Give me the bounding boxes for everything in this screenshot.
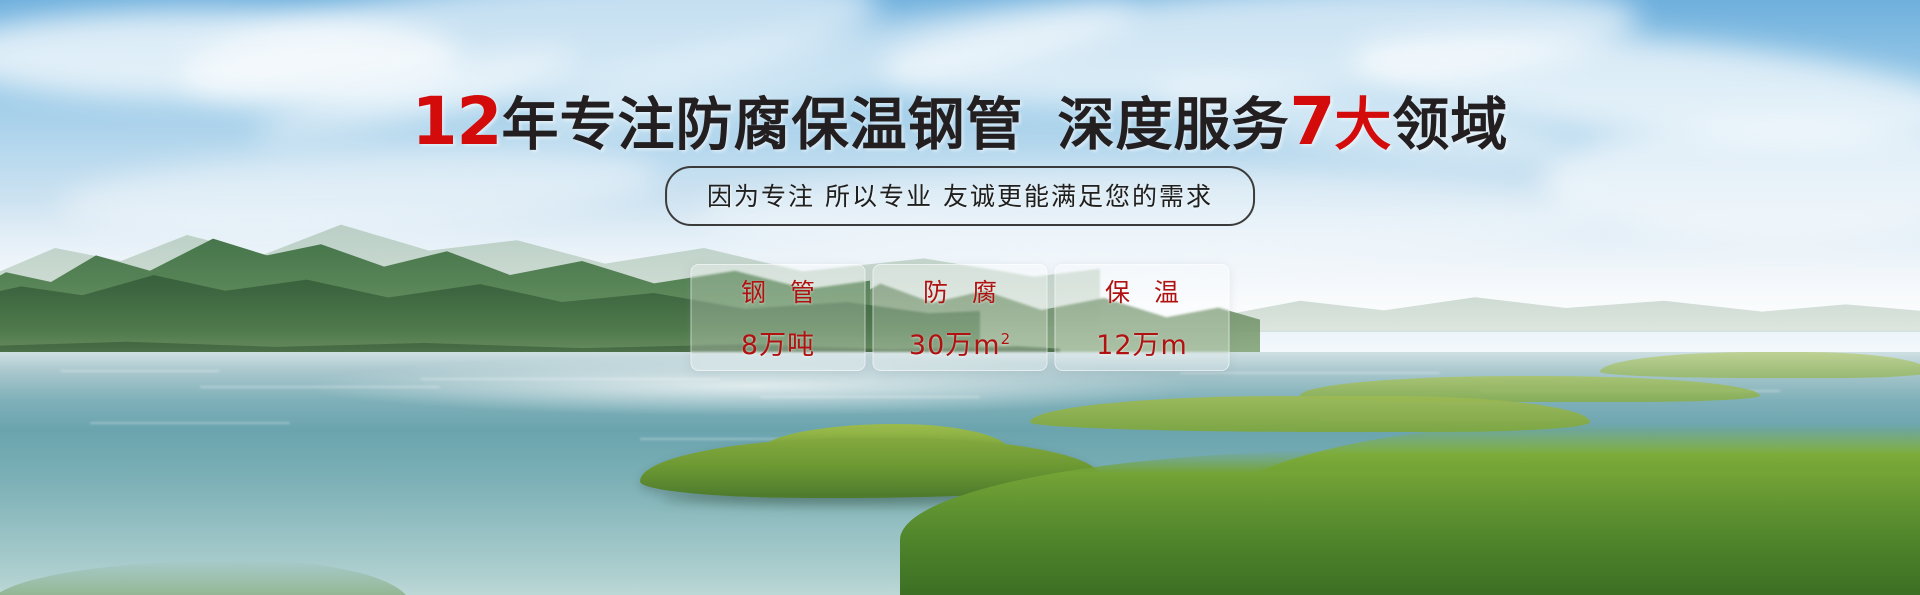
hero-banner: 12年专注防腐保温钢管深度服务7大领域 因为专注 所以专业 友诚更能满足您的需求… — [0, 0, 1920, 595]
water-shimmer — [60, 370, 220, 372]
water-shimmer — [1180, 372, 1440, 374]
stat-card-anticorrosion: 防 腐 30万m2 — [873, 264, 1048, 371]
stat-card-value-sup: 2 — [1001, 330, 1012, 348]
headline-years-number: 12 — [412, 83, 502, 160]
stat-card-title: 防 腐 — [915, 273, 1005, 309]
stat-card-value: 12万m — [1096, 323, 1188, 362]
headline-service-prefix: 深度服务 — [1057, 92, 1289, 158]
banner-subtitle-pill: 因为专注 所以专业 友诚更能满足您的需求 — [665, 166, 1255, 226]
stat-card-insulation: 保 温 12万m — [1055, 264, 1230, 371]
stat-card-value-text: 8万吨 — [741, 330, 815, 361]
headline-fields-suffix: 领域 — [1392, 92, 1508, 158]
headline-fields-number: 7 — [1289, 83, 1334, 160]
stat-card-value: 30万m2 — [909, 323, 1011, 362]
stat-card-value-text: 30万m — [909, 330, 1001, 361]
stat-card-title: 钢 管 — [733, 273, 823, 309]
banner-headline: 12年专注防腐保温钢管深度服务7大领域 — [0, 86, 1920, 157]
stat-card-title: 保 温 — [1097, 273, 1187, 309]
water-shimmer — [90, 422, 290, 424]
stat-card-value-text: 12万m — [1096, 330, 1188, 361]
stat-card-group: 钢 管 8万吨 防 腐 30万m2 保 温 12万m — [691, 264, 1230, 371]
stat-card-steel-pipe: 钢 管 8万吨 — [691, 264, 866, 371]
headline-years-suffix: 年专注防腐保温钢管 — [501, 92, 1023, 158]
headline-fields-unit: 大 — [1334, 92, 1392, 158]
stat-card-value: 8万吨 — [741, 323, 815, 362]
